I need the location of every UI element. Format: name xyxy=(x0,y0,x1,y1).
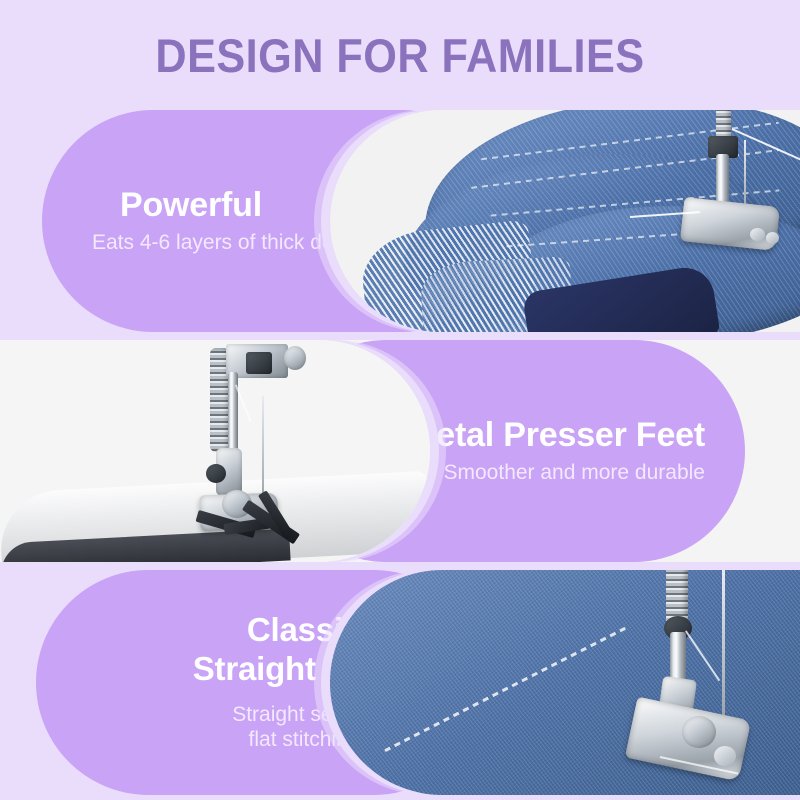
feature-subtitle-metal-presser-feet: Smoother and more durable xyxy=(444,460,706,485)
feature-band-classic-straight-stitch: Classic Straight Stitch Straight sewing … xyxy=(0,570,800,795)
sewing-needle xyxy=(262,396,264,502)
page-title: DESIGN FOR FAMILIES xyxy=(32,28,768,83)
presser-foot-hub xyxy=(682,716,716,748)
feature-band-powerful: Powerful Eats 4-6 layers of thick denim xyxy=(0,110,800,332)
presser-foot-toe xyxy=(714,746,736,766)
presser-side-knob xyxy=(284,346,306,370)
feature-image-powerful xyxy=(330,110,800,332)
presser-screw-block xyxy=(246,352,272,374)
feature-title-powerful: Powerful xyxy=(120,187,262,224)
feature-image-classic-straight-stitch xyxy=(330,570,800,795)
presser-foot-toe xyxy=(766,232,779,244)
presser-foot-toe xyxy=(750,228,765,241)
feature-title-metal-presser-feet: Metal Presser Feet xyxy=(408,417,705,454)
feature-subtitle-powerful: Eats 4-6 layers of thick denim xyxy=(92,230,367,255)
feature-band-metal-presser-feet: Metal Presser Feet Smoother and more dur… xyxy=(0,340,800,562)
presser-thumb-screw xyxy=(206,464,226,483)
sewing-needle xyxy=(722,570,725,720)
feature-image-metal-presser-feet xyxy=(0,340,430,562)
